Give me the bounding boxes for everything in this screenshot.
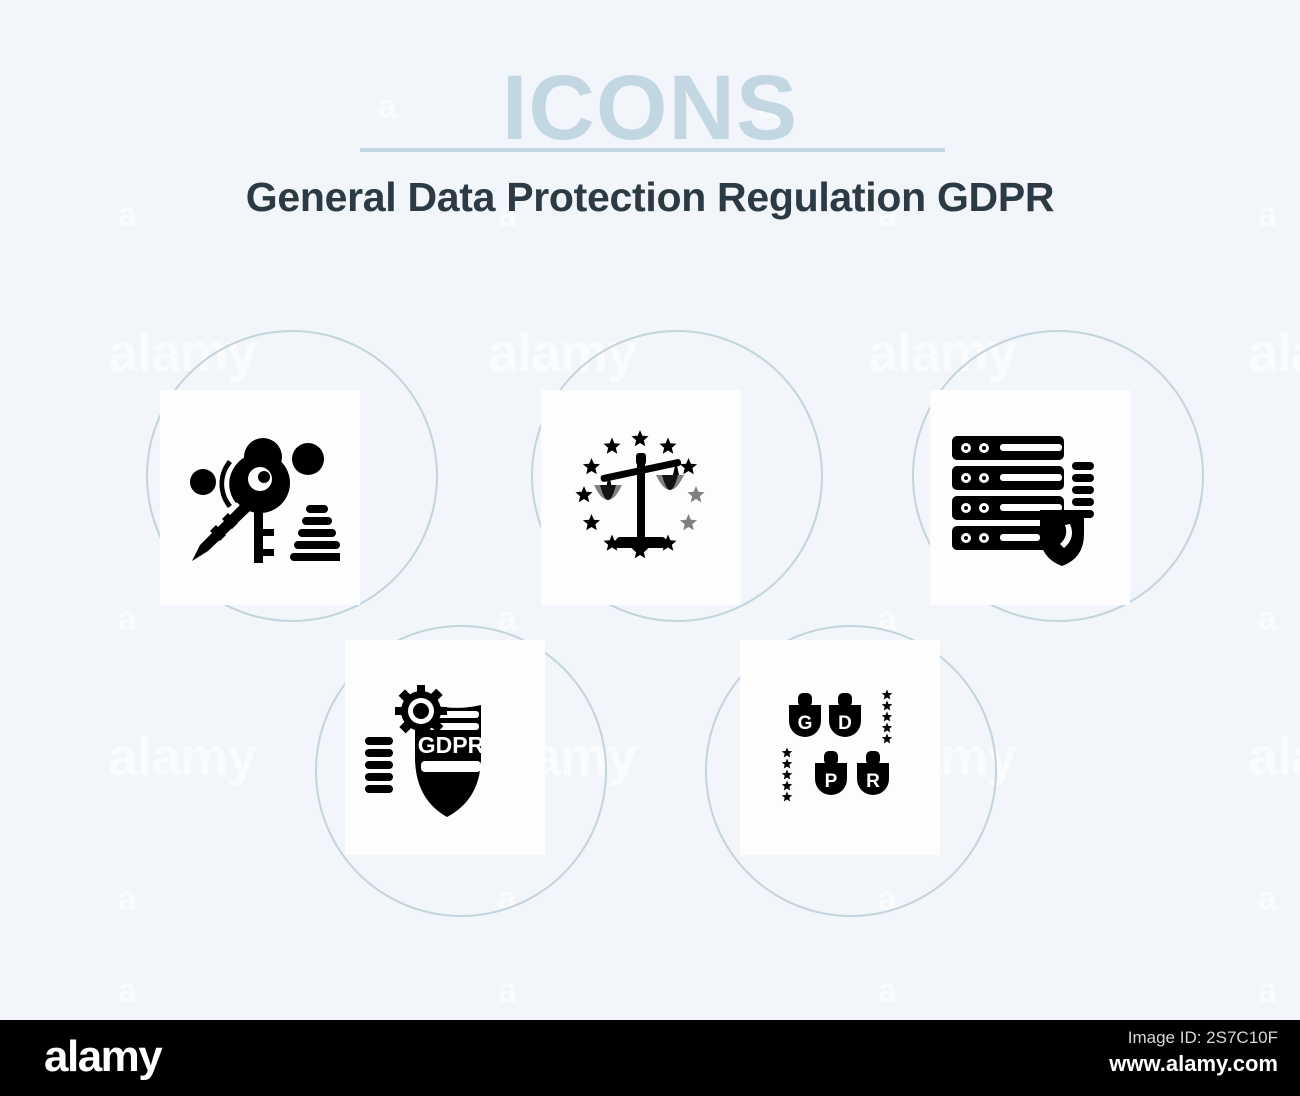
watermark-text: a xyxy=(118,600,136,639)
eu-star xyxy=(575,486,592,502)
gdpr-star xyxy=(882,722,892,732)
padlock-letter: G xyxy=(798,713,813,734)
footer-bar: alamy Image ID: 2S7C10F www.alamy.com xyxy=(0,1020,1300,1096)
gdpr-padlocks-icon: GDPR xyxy=(765,683,915,813)
watermark-text: a xyxy=(118,880,136,919)
gdpr-star xyxy=(882,711,892,721)
gdpr-star xyxy=(782,747,792,757)
watermark-text: a xyxy=(1258,600,1276,639)
justice-scale-eu-icon xyxy=(566,423,716,573)
gdpr-star xyxy=(782,769,792,779)
watermark-text: a xyxy=(878,972,896,1011)
icon-tile-gdpr-locks[interactable]: GDPR xyxy=(740,640,940,855)
screenshot-canvas: alamyalamyalamyalamyaaaaaaaaalamyalamyal… xyxy=(0,0,1300,1096)
eu-star xyxy=(680,458,697,474)
icon-tile-key[interactable] xyxy=(160,390,360,605)
padlock-g: G xyxy=(789,693,821,737)
gdpr-star xyxy=(882,689,892,699)
gdpr-star xyxy=(782,780,792,790)
padlock-letter: P xyxy=(825,771,838,792)
watermark-text: alamy xyxy=(108,726,256,788)
eu-star xyxy=(583,514,600,530)
kicker-underline xyxy=(360,148,945,152)
alamy-logo: alamy xyxy=(44,1034,161,1080)
padlock-letter: R xyxy=(866,771,880,792)
padlock-letter: D xyxy=(838,713,852,734)
eu-star xyxy=(687,486,704,502)
gdpr-shield-label: GDPR xyxy=(417,732,484,758)
gdpr-star xyxy=(782,758,792,768)
key-data-icon xyxy=(180,433,340,563)
icon-tile-gdpr-shield[interactable]: GDPR xyxy=(345,640,545,855)
gdpr-star xyxy=(882,700,892,710)
icon-tile-justice[interactable] xyxy=(541,390,741,605)
gdpr-shield-gear-icon: GDPR xyxy=(363,675,528,820)
watermark-text: a xyxy=(1258,972,1276,1011)
padlock-d: D xyxy=(829,693,861,737)
watermark-text: a xyxy=(1258,880,1276,919)
eu-star xyxy=(603,437,620,453)
gdpr-star xyxy=(782,791,792,801)
padlock-p: P xyxy=(815,751,847,795)
image-id-label: Image ID: 2S7C10F xyxy=(1128,1028,1278,1048)
eu-star xyxy=(631,430,648,446)
padlock-r: R xyxy=(857,751,889,795)
watermark-text: a xyxy=(118,972,136,1011)
icon-tile-database[interactable] xyxy=(930,390,1130,605)
page-title: General Data Protection Regulation GDPR xyxy=(0,172,1300,222)
alamy-url: www.alamy.com xyxy=(1109,1051,1278,1077)
eu-star xyxy=(583,458,600,474)
eu-star xyxy=(659,437,676,453)
eu-star xyxy=(680,514,697,530)
gdpr-star xyxy=(882,733,892,743)
watermark-text: alamy xyxy=(1248,322,1300,384)
icons-kicker: ICONS xyxy=(0,62,1300,154)
watermark-text: alamy xyxy=(1248,726,1300,788)
watermark-text: a xyxy=(498,972,516,1011)
database-shield-icon xyxy=(948,428,1113,568)
